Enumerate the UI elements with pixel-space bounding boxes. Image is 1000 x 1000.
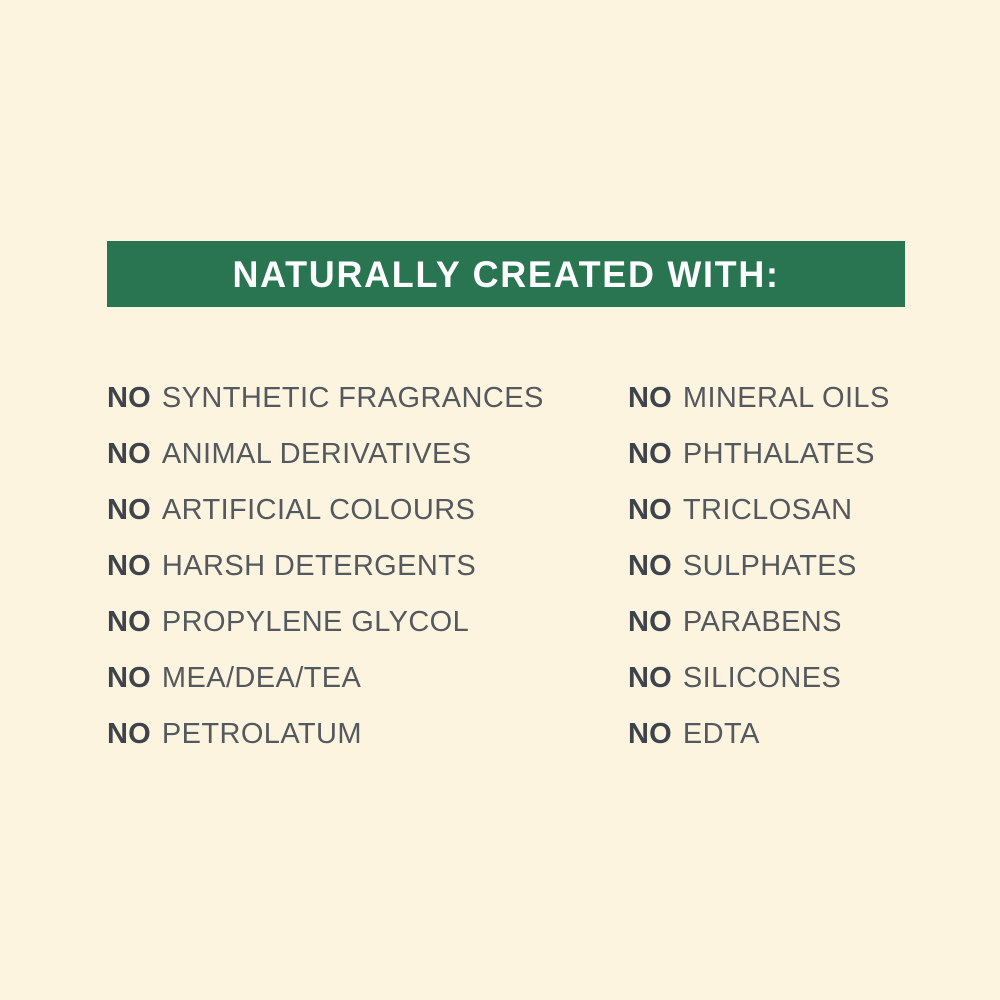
claim-prefix: NO (107, 438, 151, 471)
list-item: NO PETROLATUM (107, 706, 628, 762)
claim-prefix: NO (107, 550, 151, 583)
claim-prefix: NO (107, 494, 151, 527)
list-item: NO SILICONES (628, 650, 927, 706)
header-banner: NATURALLY CREATED WITH: (107, 241, 905, 307)
list-item: NO PROPYLENE GLYCOL (107, 594, 628, 650)
list-item: NO HARSH DETERGENTS (107, 538, 628, 594)
claim-prefix: NO (628, 606, 672, 639)
claim-label: ARTIFICIAL COLOURS (162, 494, 475, 527)
claim-label: HARSH DETERGENTS (162, 550, 476, 583)
claim-label: SULPHATES (683, 550, 857, 583)
claim-label: ANIMAL DERIVATIVES (162, 438, 472, 471)
claim-label: TRICLOSAN (683, 494, 853, 527)
claim-prefix: NO (628, 382, 672, 415)
list-item: NO SULPHATES (628, 538, 927, 594)
claim-label: EDTA (683, 718, 760, 751)
claim-prefix: NO (628, 662, 672, 695)
claims-column-right: NO MINERAL OILS NO PHTHALATES NO TRICLOS… (628, 370, 927, 762)
claim-prefix: NO (628, 718, 672, 751)
claim-prefix: NO (107, 382, 151, 415)
claim-label: MEA/DEA/TEA (162, 662, 361, 695)
list-item: NO MINERAL OILS (628, 370, 927, 426)
claim-prefix: NO (628, 550, 672, 583)
list-item: NO SYNTHETIC FRAGRANCES (107, 370, 628, 426)
list-item: NO PARABENS (628, 594, 927, 650)
list-item: NO ARTIFICIAL COLOURS (107, 482, 628, 538)
claim-prefix: NO (628, 494, 672, 527)
claim-prefix: NO (107, 718, 151, 751)
claim-prefix: NO (107, 606, 151, 639)
list-item: NO TRICLOSAN (628, 482, 927, 538)
claim-label: SYNTHETIC FRAGRANCES (162, 382, 544, 415)
list-item: NO PHTHALATES (628, 426, 927, 482)
claim-label: PARABENS (683, 606, 842, 639)
claim-label: SILICONES (683, 662, 841, 695)
claim-label: MINERAL OILS (683, 382, 890, 415)
claim-label: PROPYLENE GLYCOL (162, 606, 469, 639)
claim-prefix: NO (107, 662, 151, 695)
claim-prefix: NO (628, 438, 672, 471)
list-item: NO EDTA (628, 706, 927, 762)
claim-label: PHTHALATES (683, 438, 875, 471)
claim-label: PETROLATUM (162, 718, 362, 751)
page-title: NATURALLY CREATED WITH: (232, 256, 779, 293)
list-item: NO ANIMAL DERIVATIVES (107, 426, 628, 482)
claims-column-left: NO SYNTHETIC FRAGRANCES NO ANIMAL DERIVA… (107, 370, 628, 762)
claims-list: NO SYNTHETIC FRAGRANCES NO ANIMAL DERIVA… (107, 370, 927, 762)
product-claims-graphic: NATURALLY CREATED WITH: NO SYNTHETIC FRA… (0, 0, 1000, 1000)
list-item: NO MEA/DEA/TEA (107, 650, 628, 706)
